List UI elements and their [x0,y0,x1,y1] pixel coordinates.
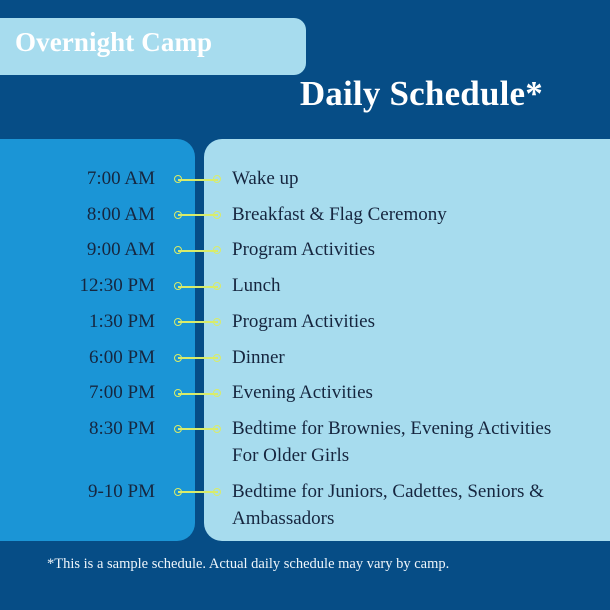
overnight-camp-badge: Overnight Camp [0,18,306,75]
connector-start-dot-icon [174,488,182,496]
connector-end-dot-icon [213,488,221,496]
schedule-rows: 7:00 AMWake up8:00 AMBreakfast & Flag Ce… [0,139,610,541]
row-activity: Lunch [232,272,572,299]
row-connector-icon [174,211,222,220]
footnote-text: *This is a sample schedule. Actual daily… [47,554,467,575]
connector-end-dot-icon [213,282,221,290]
row-activity: Bedtime for Brownies, Evening Activities… [232,415,572,469]
row-time: 12:30 PM [0,275,155,297]
row-connector-icon [174,282,222,291]
connector-end-dot-icon [213,246,221,254]
row-connector-icon [174,488,222,497]
row-connector-icon [174,246,222,255]
connector-end-dot-icon [213,211,221,219]
connector-line-icon [178,357,218,359]
connector-end-dot-icon [213,354,221,362]
row-time: 7:00 PM [0,382,155,404]
daily-schedule-poster: Overnight Camp Daily Schedule* 7:00 AMWa… [0,0,610,610]
row-connector-icon [174,425,222,434]
row-activity: Program Activities [232,236,572,263]
connector-line-icon [178,286,218,288]
connector-line-icon [178,179,218,181]
connector-end-dot-icon [213,425,221,433]
connector-start-dot-icon [174,354,182,362]
row-connector-icon [174,175,222,184]
row-time: 6:00 PM [0,347,155,369]
connector-line-icon [178,491,218,493]
row-connector-icon [174,354,222,363]
row-activity: Wake up [232,165,572,192]
connector-line-icon [178,393,218,395]
connector-end-dot-icon [213,389,221,397]
connector-end-dot-icon [213,175,221,183]
row-activity: Program Activities [232,308,572,335]
connector-end-dot-icon [213,318,221,326]
row-time: 1:30 PM [0,311,155,333]
poster-header: Overnight Camp Daily Schedule* [0,0,610,131]
connector-start-dot-icon [174,175,182,183]
overnight-camp-badge-label: Overnight Camp [15,27,212,58]
connector-line-icon [178,321,218,323]
row-connector-icon [174,389,222,398]
row-time: 7:00 AM [0,168,155,190]
connector-start-dot-icon [174,389,182,397]
connector-start-dot-icon [174,425,182,433]
row-activity: Breakfast & Flag Ceremony [232,201,572,228]
connector-start-dot-icon [174,282,182,290]
row-time: 8:00 AM [0,204,155,226]
row-connector-icon [174,318,222,327]
connector-line-icon [178,250,218,252]
row-time: 9:00 AM [0,239,155,261]
page-title: Daily Schedule* [300,76,543,111]
connector-line-icon [178,428,218,430]
connector-start-dot-icon [174,246,182,254]
connector-start-dot-icon [174,318,182,326]
row-activity: Dinner [232,344,572,371]
row-activity: Evening Activities [232,379,572,406]
row-activity: Bedtime for Juniors, Cadettes, Seniors &… [232,478,572,532]
connector-start-dot-icon [174,211,182,219]
row-time: 9-10 PM [0,481,155,503]
connector-line-icon [178,214,218,216]
row-time: 8:30 PM [0,418,155,440]
